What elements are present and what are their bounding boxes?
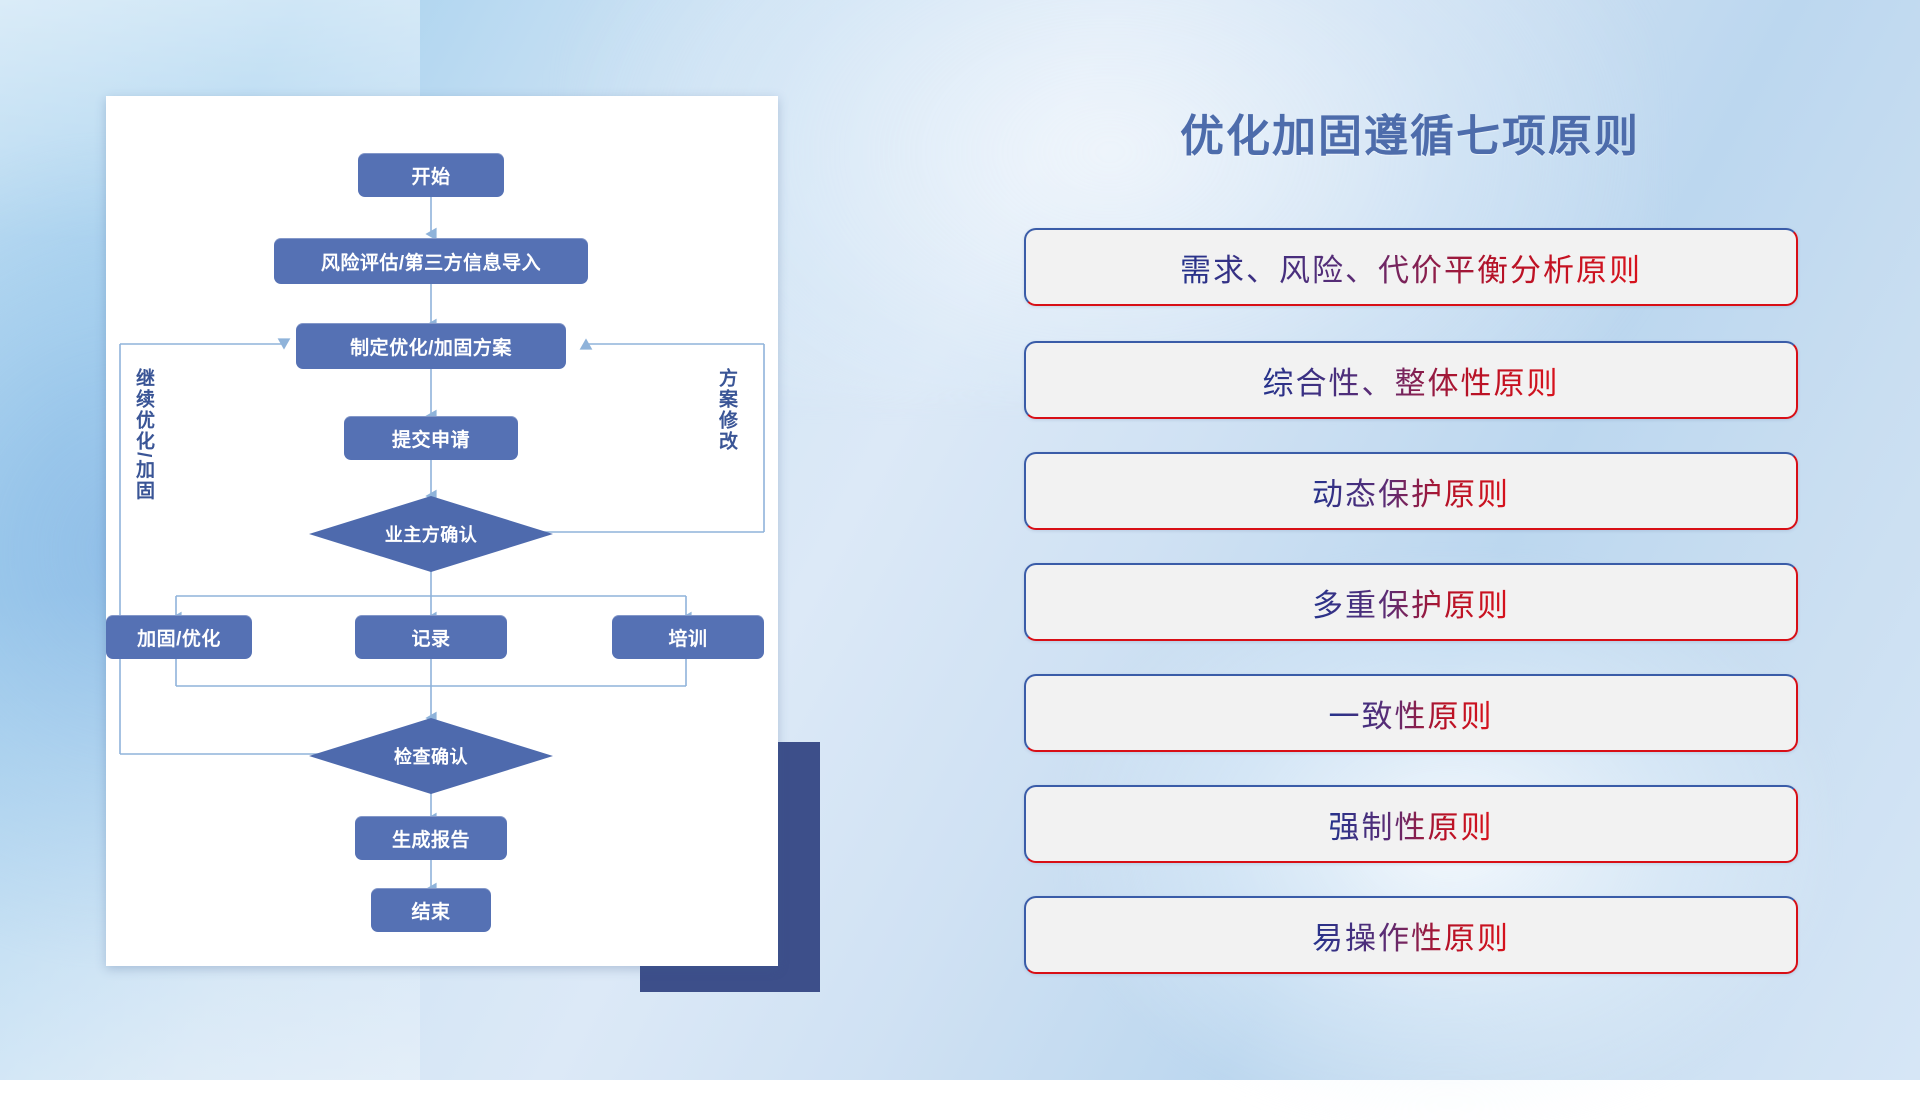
principle-card[interactable]: 需求、风险、代价平衡分析原则 xyxy=(1024,228,1798,306)
principle-card-label: 易操作性原则 xyxy=(1312,913,1510,958)
flowchart-canvas: 开始 风险评估/第三方信息导入 制定优化/加固方案 提交申请 业主方确认 加固/… xyxy=(106,96,778,966)
flow-decision-owner-confirm[interactable]: 业主方确认 xyxy=(309,496,553,572)
flow-node-record[interactable]: 记录 xyxy=(355,615,507,659)
flow-decision-owner-confirm-label: 业主方确认 xyxy=(385,521,478,547)
principle-card[interactable]: 综合性、整体性原则 xyxy=(1024,341,1798,419)
principle-card[interactable]: 动态保护原则 xyxy=(1024,452,1798,530)
flow-node-start[interactable]: 开始 xyxy=(358,153,504,197)
principle-card[interactable]: 一致性原则 xyxy=(1024,674,1798,752)
flow-node-submit-application[interactable]: 提交申请 xyxy=(344,416,518,460)
principle-card[interactable]: 易操作性原则 xyxy=(1024,896,1798,974)
flow-node-make-plan[interactable]: 制定优化/加固方案 xyxy=(296,323,566,369)
flow-node-risk-assessment[interactable]: 风险评估/第三方信息导入 xyxy=(274,238,588,284)
principle-card[interactable]: 强制性原则 xyxy=(1024,785,1798,863)
flow-decision-check-confirm-label: 检查确认 xyxy=(394,743,468,769)
flow-node-generate-report[interactable]: 生成报告 xyxy=(355,816,507,860)
principles-panel: 优化加固遵循七项原则 需求、风险、代价平衡分析原则 综合性、整体性原则 动态保护… xyxy=(1000,86,1820,1006)
principle-card-label: 动态保护原则 xyxy=(1312,469,1510,514)
flow-node-reinforce-optimize[interactable]: 加固/优化 xyxy=(106,615,252,659)
principle-card-label: 一致性原则 xyxy=(1329,691,1494,736)
principle-card-label: 强制性原则 xyxy=(1329,802,1494,847)
panel-title: 优化加固遵循七项原则 xyxy=(1000,100,1820,164)
flow-node-training[interactable]: 培训 xyxy=(612,615,764,659)
flow-node-end[interactable]: 结束 xyxy=(371,888,491,932)
principle-card[interactable]: 多重保护原则 xyxy=(1024,563,1798,641)
flow-decision-check-confirm[interactable]: 检查确认 xyxy=(309,718,553,794)
principle-card-label: 综合性、整体性原则 xyxy=(1263,358,1560,403)
principle-card-label: 多重保护原则 xyxy=(1312,580,1510,625)
flow-edge-label-continue-optimize: 继续优化/加固 xyxy=(130,368,157,501)
flowchart-card: 开始 风险评估/第三方信息导入 制定优化/加固方案 提交申请 业主方确认 加固/… xyxy=(106,96,778,966)
principle-card-label: 需求、风险、代价平衡分析原则 xyxy=(1180,245,1642,290)
flow-edge-label-plan-revision: 方案修改 xyxy=(713,368,740,452)
